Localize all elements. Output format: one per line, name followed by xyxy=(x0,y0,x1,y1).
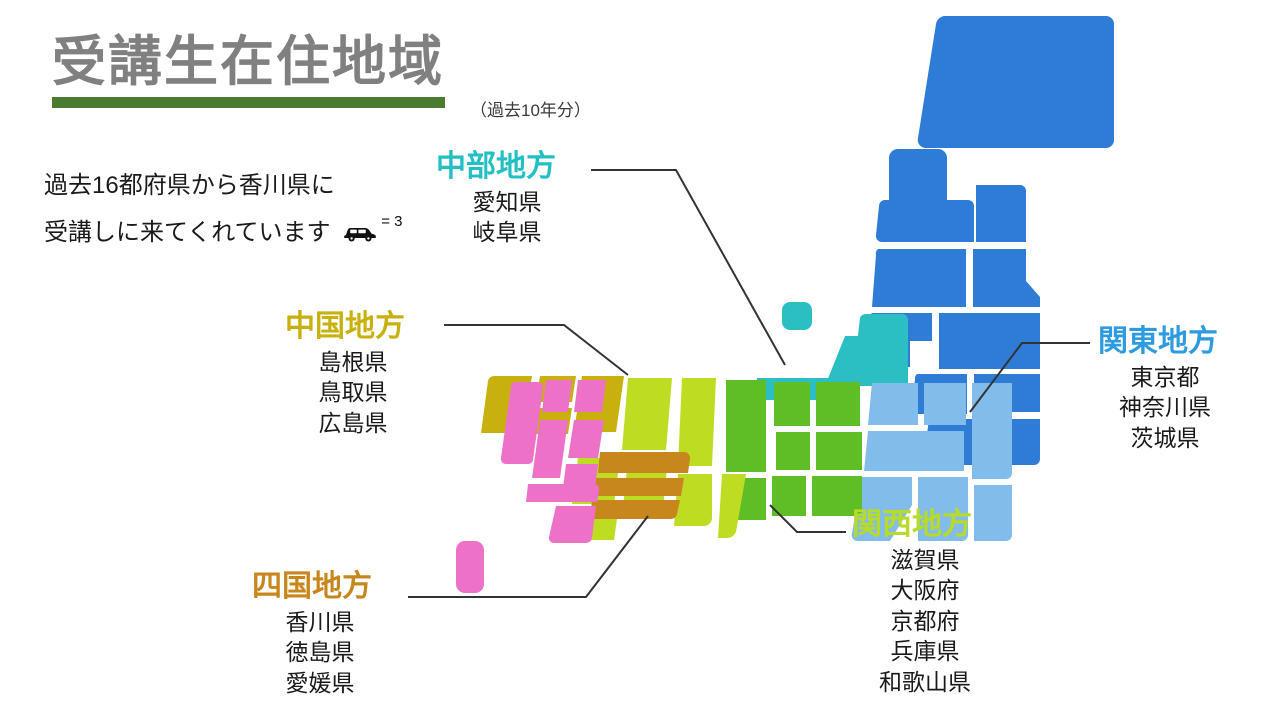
prefecture-item: 京都府 xyxy=(878,606,972,637)
title-note: （過去10年分） xyxy=(470,96,591,121)
map-region-kyushu xyxy=(456,380,606,593)
map-region-shikoku xyxy=(590,452,690,519)
region-label-shikoku: 四国地方 香川県 徳島県 愛媛県 xyxy=(252,570,372,698)
region-name-kansai: 関西地方 xyxy=(852,508,972,543)
map-region-chubu-teal xyxy=(755,302,908,400)
prefecture-item: 和歌山県 xyxy=(878,667,972,698)
prefecture-item: 東京都 xyxy=(1112,362,1218,393)
prefecture-item: 大阪府 xyxy=(878,575,972,606)
prefecture-item: 愛知県 xyxy=(458,187,556,218)
leader-line-chubu xyxy=(591,170,785,365)
lead-line-2-wrap: 受講しに来てくれています = 3 xyxy=(44,208,403,255)
title-underline-rule xyxy=(52,97,445,108)
leader-line-chugoku xyxy=(444,325,628,375)
prefecture-item: 茨城県 xyxy=(1112,423,1218,454)
title-block: 受講生在住地域 xyxy=(52,34,482,108)
lead-paragraph: 過去16都府県から香川県に 受講しに来てくれています = 3 xyxy=(44,164,403,256)
leader-line-kansai xyxy=(770,505,846,532)
car-legend: = 3 xyxy=(343,208,402,236)
prefecture-item: 滋賀県 xyxy=(878,545,972,576)
region-prefectures-chugoku: 島根県 鳥取県 広島県 xyxy=(285,347,405,439)
map-region-hokkaido-tohoku xyxy=(865,16,1114,465)
lead-line-2: 受講しに来てくれています xyxy=(44,219,331,246)
prefecture-item: 島根県 xyxy=(301,347,405,378)
prefecture-item: 広島県 xyxy=(301,408,405,439)
region-label-chugoku: 中国地方 島根県 鳥取県 広島県 xyxy=(285,310,405,438)
region-name-chugoku: 中国地方 xyxy=(285,310,405,345)
japan-region-map xyxy=(0,0,1280,720)
lead-line-1: 過去16都府県から香川県に xyxy=(44,164,403,208)
region-prefectures-kanto: 東京都 神奈川県 茨城県 xyxy=(1098,362,1218,454)
prefecture-item: 愛媛県 xyxy=(268,668,372,699)
region-prefectures-kansai: 滋賀県 大阪府 京都府 兵庫県 和歌山県 xyxy=(852,545,972,698)
prefecture-item: 鳥取県 xyxy=(301,377,405,408)
region-prefectures-chubu: 愛知県 岐阜県 xyxy=(436,187,556,248)
slide-root: 受講生在住地域 （過去10年分） 過去16都府県から香川県に 受講しに来てくれて… xyxy=(0,0,1280,720)
leader-line-kanto xyxy=(970,343,1090,412)
region-name-chubu: 中部地方 xyxy=(436,150,556,185)
map-region-chubu-green xyxy=(726,380,862,520)
region-label-chubu: 中部地方 愛知県 岐阜県 xyxy=(436,150,556,248)
region-name-kanto: 関東地方 xyxy=(1098,325,1218,360)
car-icon xyxy=(343,213,377,231)
prefecture-item: 徳島県 xyxy=(268,637,372,668)
region-name-shikoku: 四国地方 xyxy=(252,570,372,605)
prefecture-item: 兵庫県 xyxy=(878,636,972,667)
prefecture-item: 香川県 xyxy=(268,607,372,638)
car-equals-label: = 3 xyxy=(381,208,402,236)
region-prefectures-shikoku: 香川県 徳島県 愛媛県 xyxy=(252,607,372,699)
prefecture-item: 神奈川県 xyxy=(1112,392,1218,423)
page-title: 受講生在住地域 xyxy=(52,34,482,91)
leader-line-shikoku xyxy=(408,516,648,597)
prefecture-item: 岐阜県 xyxy=(458,217,556,248)
region-label-kanto: 関東地方 東京都 神奈川県 茨城県 xyxy=(1098,325,1218,453)
map-region-kansai xyxy=(572,378,746,540)
region-label-kansai: 関西地方 滋賀県 大阪府 京都府 兵庫県 和歌山県 xyxy=(852,508,972,697)
map-region-chugoku xyxy=(481,376,624,434)
